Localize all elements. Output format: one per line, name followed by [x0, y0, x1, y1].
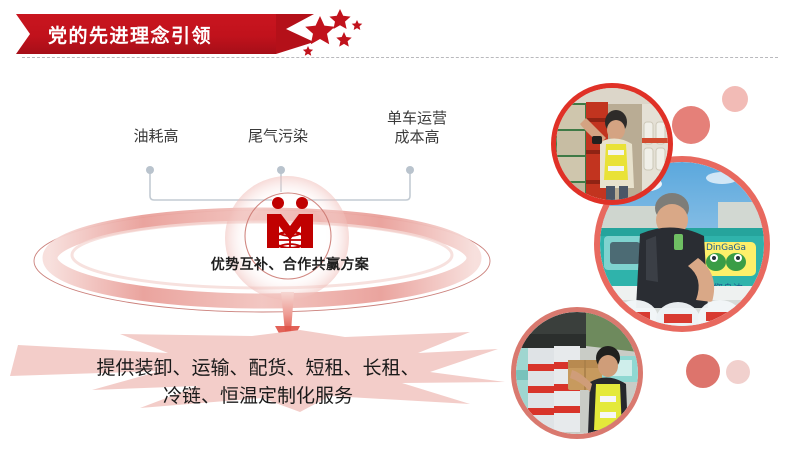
decor-dot-2: [722, 86, 748, 112]
decor-dot-1: [672, 106, 710, 144]
outcome-text-line2: 冷链、恒温定制化服务: [48, 383, 468, 411]
svg-text:DinGaGa: DinGaGa: [706, 243, 746, 253]
outcome-text: 提供装卸、运输、配货、短租、长租、 冷链、恒温定制化服务: [48, 355, 468, 410]
box-carry-photo: [516, 312, 638, 434]
warehouse-scene: [556, 88, 668, 200]
warehouse-loading-photo: [556, 88, 668, 200]
box-carry-scene: [516, 312, 638, 434]
decor-dot-4: [726, 360, 750, 384]
decor-dot-3: [686, 354, 720, 388]
slide-canvas: 党的先进理念引领 油耗高 尾气污染 单车运营 成本高: [0, 0, 800, 450]
outcome-text-line1: 提供装卸、运输、配货、短租、长租、: [48, 355, 468, 383]
